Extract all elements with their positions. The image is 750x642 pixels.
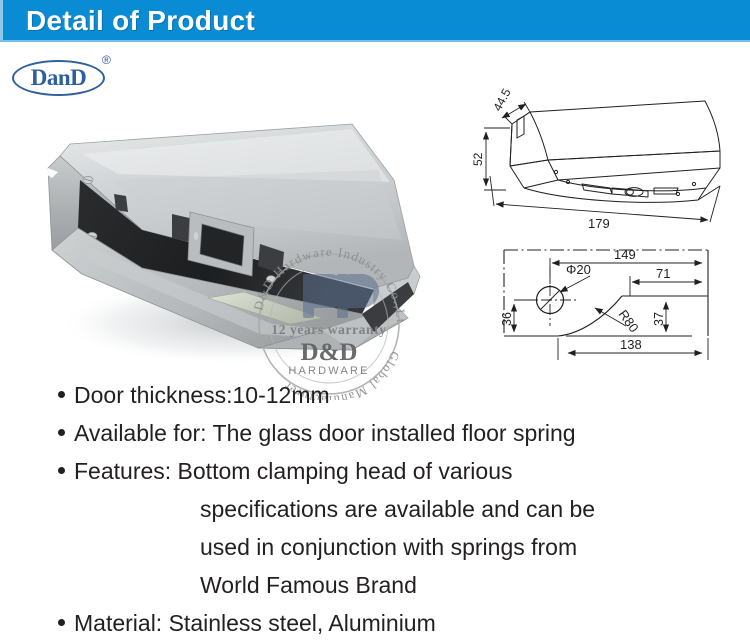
spec-text: Door thickness:10-12mm xyxy=(74,378,330,412)
dimension-label-r80: R80 xyxy=(616,307,642,335)
dimension-label-149: 149 xyxy=(614,247,636,262)
bullet-icon xyxy=(58,429,65,436)
isometric-drawing-svg: 44.5 52 179 xyxy=(462,88,750,233)
bullet-icon xyxy=(58,391,65,398)
page-title: Detail of Product xyxy=(26,5,255,37)
spec-item-features: Features: Bottom clamping head of variou… xyxy=(0,452,750,490)
dimension-label-179: 179 xyxy=(588,216,610,231)
dimension-label-phi20: Φ20 xyxy=(566,262,591,277)
dimension-label-52: 52 xyxy=(471,152,485,166)
spec-text: Available for: The glass door installed … xyxy=(74,416,576,450)
screw-mid-right xyxy=(266,276,275,283)
header-left-accent xyxy=(0,0,3,42)
dimension-label-37: 37 xyxy=(652,312,666,326)
spec-item-features-line4: World Famous Brand xyxy=(0,566,750,604)
technical-drawing-isometric: 44.5 52 179 xyxy=(462,88,750,233)
registered-trademark-icon: ® xyxy=(102,54,111,66)
interior-rib-left xyxy=(114,194,128,212)
bullet-icon xyxy=(58,619,65,626)
bullet-icon xyxy=(58,467,65,474)
dimension-label-138: 138 xyxy=(620,337,642,352)
product-photo xyxy=(22,118,432,383)
specification-list: Door thickness:10-12mm Available for: Th… xyxy=(0,376,750,642)
dimension-label-71: 71 xyxy=(656,266,670,281)
spec-item-material: Material: Stainless steel, Aluminium xyxy=(0,604,750,642)
technical-drawing-plan: Φ20 149 71 36 R8 xyxy=(462,234,750,376)
brand-logo: DanD ® xyxy=(12,54,117,100)
spec-item-available-for: Available for: The glass door installed … xyxy=(0,414,750,452)
plan-drawing-svg: Φ20 149 71 36 R8 xyxy=(462,234,750,376)
lock-cutout-pin xyxy=(194,232,198,240)
header-bottom-accent xyxy=(0,40,750,42)
spec-text: World Famous Brand xyxy=(200,568,417,602)
logo-wordmark: DanD xyxy=(12,60,105,96)
spec-item-features-line2: specifications are available and can be xyxy=(0,490,750,528)
dimension-label-44-5: 44.5 xyxy=(490,88,513,113)
product-detail-page: Detail of Product DanD ® xyxy=(0,0,750,638)
product-photo-illustration xyxy=(22,118,432,383)
spec-text: used in conjunction with springs from xyxy=(200,530,577,564)
dimension-label-36: 36 xyxy=(500,312,514,326)
spec-text: specifications are available and can be xyxy=(200,492,595,526)
spec-item-door-thickness: Door thickness:10-12mm xyxy=(0,376,750,414)
spec-text: Material: Stainless steel, Aluminium xyxy=(74,606,436,640)
spec-text: Features: Bottom clamping head of variou… xyxy=(74,454,513,488)
spec-item-features-line3: used in conjunction with springs from xyxy=(0,528,750,566)
